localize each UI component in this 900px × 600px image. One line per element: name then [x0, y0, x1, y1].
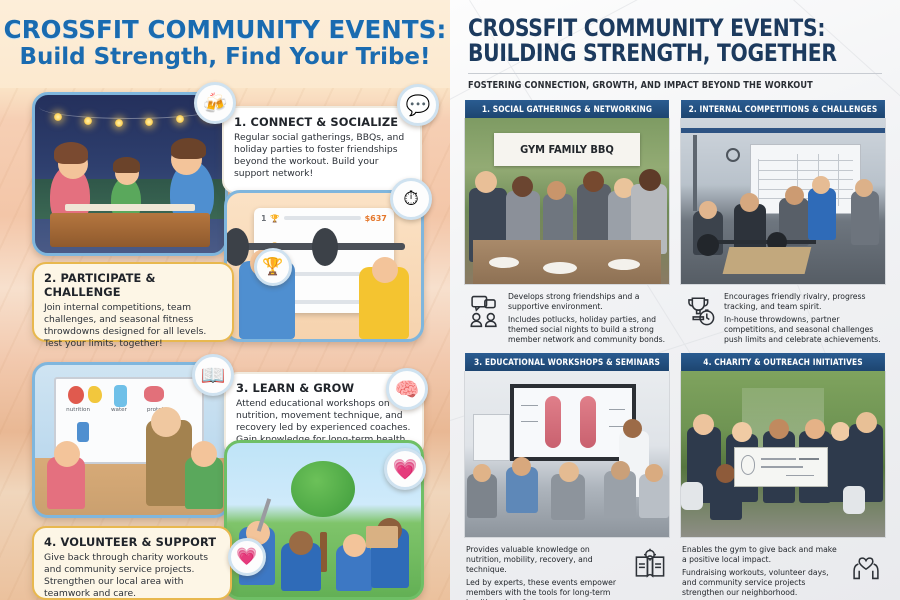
right-card-1-line-1: Develops strong friendships and a suppor…	[508, 292, 668, 312]
speech-bubble-icon: 💬	[397, 84, 439, 126]
right-card-3-line-1: Provides valuable knowledge on nutrition…	[466, 545, 626, 575]
right-card-2-line-1: Encourages friendly rivalry, progress tr…	[724, 292, 884, 312]
right-card-4-text: Enables the gym to give back and make a …	[682, 545, 842, 598]
tree-trunk	[320, 532, 327, 572]
speech-bubble-glyph: 💬	[406, 93, 431, 118]
right-panel-card-grid: 1. SOCIAL GATHERINGS & NETWORKING GYM FA…	[464, 100, 886, 600]
spectator	[851, 191, 879, 245]
left-section-4-textbox: 4. VOLUNTEER & SUPPORT Give back through…	[32, 526, 232, 600]
food-plate	[489, 257, 519, 268]
anatomy-figure-back	[580, 396, 596, 448]
right-card-2-text: Encourages friendly rivalry, progress tr…	[724, 292, 884, 345]
right-card-3-text: Provides valuable knowledge on nutrition…	[466, 545, 626, 600]
left-section-4-heading: 4. VOLUNTEER & SUPPORT	[44, 535, 220, 549]
gym-ceiling-beam	[681, 128, 885, 133]
left-section-4: 4. VOLUNTEER & SUPPORT Give back through…	[32, 440, 424, 600]
left-panel-title-line1: CROSSFIT COMMUNITY EVENTS:	[4, 17, 447, 43]
left-panel-header: CROSSFIT COMMUNITY EVENTS: Build Strengt…	[0, 0, 450, 88]
right-card-2-body: Encourages friendly rivalry, progress tr…	[680, 285, 886, 345]
right-panel-subtitle: FOSTERING CONNECTION, GROWTH, AND IMPACT…	[468, 80, 861, 91]
heart-in-hands-icon: 💗	[384, 448, 426, 490]
right-panel-title-line2: BUILDING STRENGTH, TOGETHER	[468, 41, 857, 66]
right-card-1-line-2: Includes potlucks, holiday parties, and …	[508, 315, 668, 345]
food-plate	[608, 259, 640, 270]
stopwatch-icon: ⏱	[390, 178, 432, 220]
whiteboard-label-water: water	[100, 407, 138, 413]
right-panel-title-line1: CROSSFIT COMMUNITY EVENTS:	[468, 16, 857, 41]
tree-canopy	[291, 461, 355, 517]
donation-crate	[366, 526, 398, 548]
left-section-4-body: Give back through charity workouts and c…	[44, 552, 220, 600]
trophy-stopwatch-icon	[682, 293, 718, 329]
right-panel-header: CROSSFIT COMMUNITY EVENTS: BUILDING STRE…	[450, 0, 900, 91]
right-card-4-line-2: Fundraising workouts, volunteer days, an…	[682, 568, 842, 598]
flipchart-board	[473, 414, 510, 460]
right-infographic-panel: CROSSFIT COMMUNITY EVENTS: BUILDING STRE…	[450, 0, 900, 600]
right-card-3-body: Provides valuable knowledge on nutrition…	[464, 538, 670, 600]
trophy-icon: 🏆	[254, 248, 292, 286]
heart-hands-glyph: 💗	[393, 457, 418, 482]
trophy-icon: 🏆	[270, 214, 279, 223]
right-card-1-header: 1. SOCIAL GATHERINGS & NETWORKING	[465, 100, 669, 118]
right-card-2-line-2: In-house throwdowns, partner competition…	[724, 315, 884, 345]
food-plate	[543, 262, 577, 274]
right-card-1-text: Develops strong friendships and a suppor…	[508, 292, 668, 345]
brain-gear-icon: 🧠	[386, 368, 428, 410]
right-card-2-photo	[680, 118, 886, 285]
left-section-1-body: Regular social gatherings, BBQs, and hol…	[234, 132, 410, 181]
left-section-2-textbox: 2. PARTICIPATE & CHALLENGE Join internal…	[32, 262, 234, 342]
right-card-3-line-2: Led by experts, these events empower mem…	[466, 578, 626, 600]
gym-rings	[726, 148, 740, 162]
right-card-3: 3. EDUCATIONAL WORKSHOPS & SEMINARS	[464, 353, 670, 600]
left-section-1-textbox: 1. CONNECT & SOCIALIZE Regular social ga…	[222, 106, 422, 194]
right-card-2-header: 2. INTERNAL COMPETITIONS & CHALLENGES	[681, 100, 885, 118]
right-card-4-photo	[680, 371, 886, 538]
left-section-1-heading: 1. CONNECT & SOCIALIZE	[234, 115, 410, 129]
trophy-glyph: 🏆	[262, 257, 283, 277]
left-section-2-body: Join internal competitions, team challen…	[44, 302, 222, 351]
left-section-2: 2. PARTICIPATE & CHALLENGE Join internal…	[32, 190, 424, 342]
presentation-screen	[510, 384, 636, 460]
cheers-glyph: 🍻	[203, 91, 228, 116]
heart-hands-glyph: 💗	[236, 547, 257, 567]
right-card-4-header: 4. CHARITY & OUTREACH INITIATIVES	[681, 353, 885, 371]
leaderboard-value: $637	[365, 214, 387, 223]
gym-rig	[693, 135, 697, 211]
right-card-1-photo: GYM FAMILY BBQ	[464, 118, 670, 285]
right-card-4-line-1: Enables the gym to give back and make a …	[682, 545, 842, 565]
leaderboard-row: 1 🏆 $637	[261, 214, 387, 223]
heart-in-hands-icon	[848, 546, 884, 582]
leaderboard-bar	[284, 216, 361, 220]
right-card-3-photo	[464, 371, 670, 538]
stopwatch-glyph: ⏱	[403, 188, 419, 211]
infographic-page: CROSSFIT COMMUNITY EVENTS: Build Strengt…	[0, 0, 900, 600]
whiteboard-label-nutrition: nutrition	[59, 407, 97, 413]
open-book-icon: 📖	[192, 354, 234, 396]
open-book-glyph: 📖	[201, 363, 226, 388]
anatomy-figure-front	[545, 396, 561, 448]
trash-bag	[681, 482, 703, 510]
oversized-donation-check	[734, 447, 828, 487]
book-gear-icon	[632, 546, 668, 582]
cheers-beer-mugs-icon: 🍻	[194, 82, 236, 124]
right-card-4: 4. CHARITY & OUTREACH INITIATIVES	[680, 353, 886, 600]
left-infographic-panel: CROSSFIT COMMUNITY EVENTS: Build Strengt…	[0, 0, 450, 600]
right-card-1: 1. SOCIAL GATHERINGS & NETWORKING GYM FA…	[464, 100, 670, 345]
speech-bubble-people-icon	[466, 293, 502, 329]
header-divider	[468, 73, 882, 74]
right-card-3-header: 3. EDUCATIONAL WORKSHOPS & SEMINARS	[465, 353, 669, 371]
left-panel-title-line2: Build Strength, Find Your Tribe!	[19, 45, 430, 70]
bbq-banner: GYM FAMILY BBQ	[494, 133, 641, 166]
leaderboard-rank: 1	[261, 214, 266, 223]
left-section-2-heading: 2. PARTICIPATE & CHALLENGE	[44, 271, 222, 299]
right-card-1-body: Develops strong friendships and a suppor…	[464, 285, 670, 345]
right-card-2: 2. INTERNAL COMPETITIONS & CHALLENGES	[680, 100, 886, 345]
heart-in-hands-icon: 💗	[228, 538, 266, 576]
right-card-4-body: Enables the gym to give back and make a …	[680, 538, 886, 598]
brain-glyph: 🧠	[395, 377, 420, 402]
lifting-platform	[723, 247, 811, 274]
coach-cheering	[808, 188, 836, 240]
trash-bag	[843, 486, 865, 514]
